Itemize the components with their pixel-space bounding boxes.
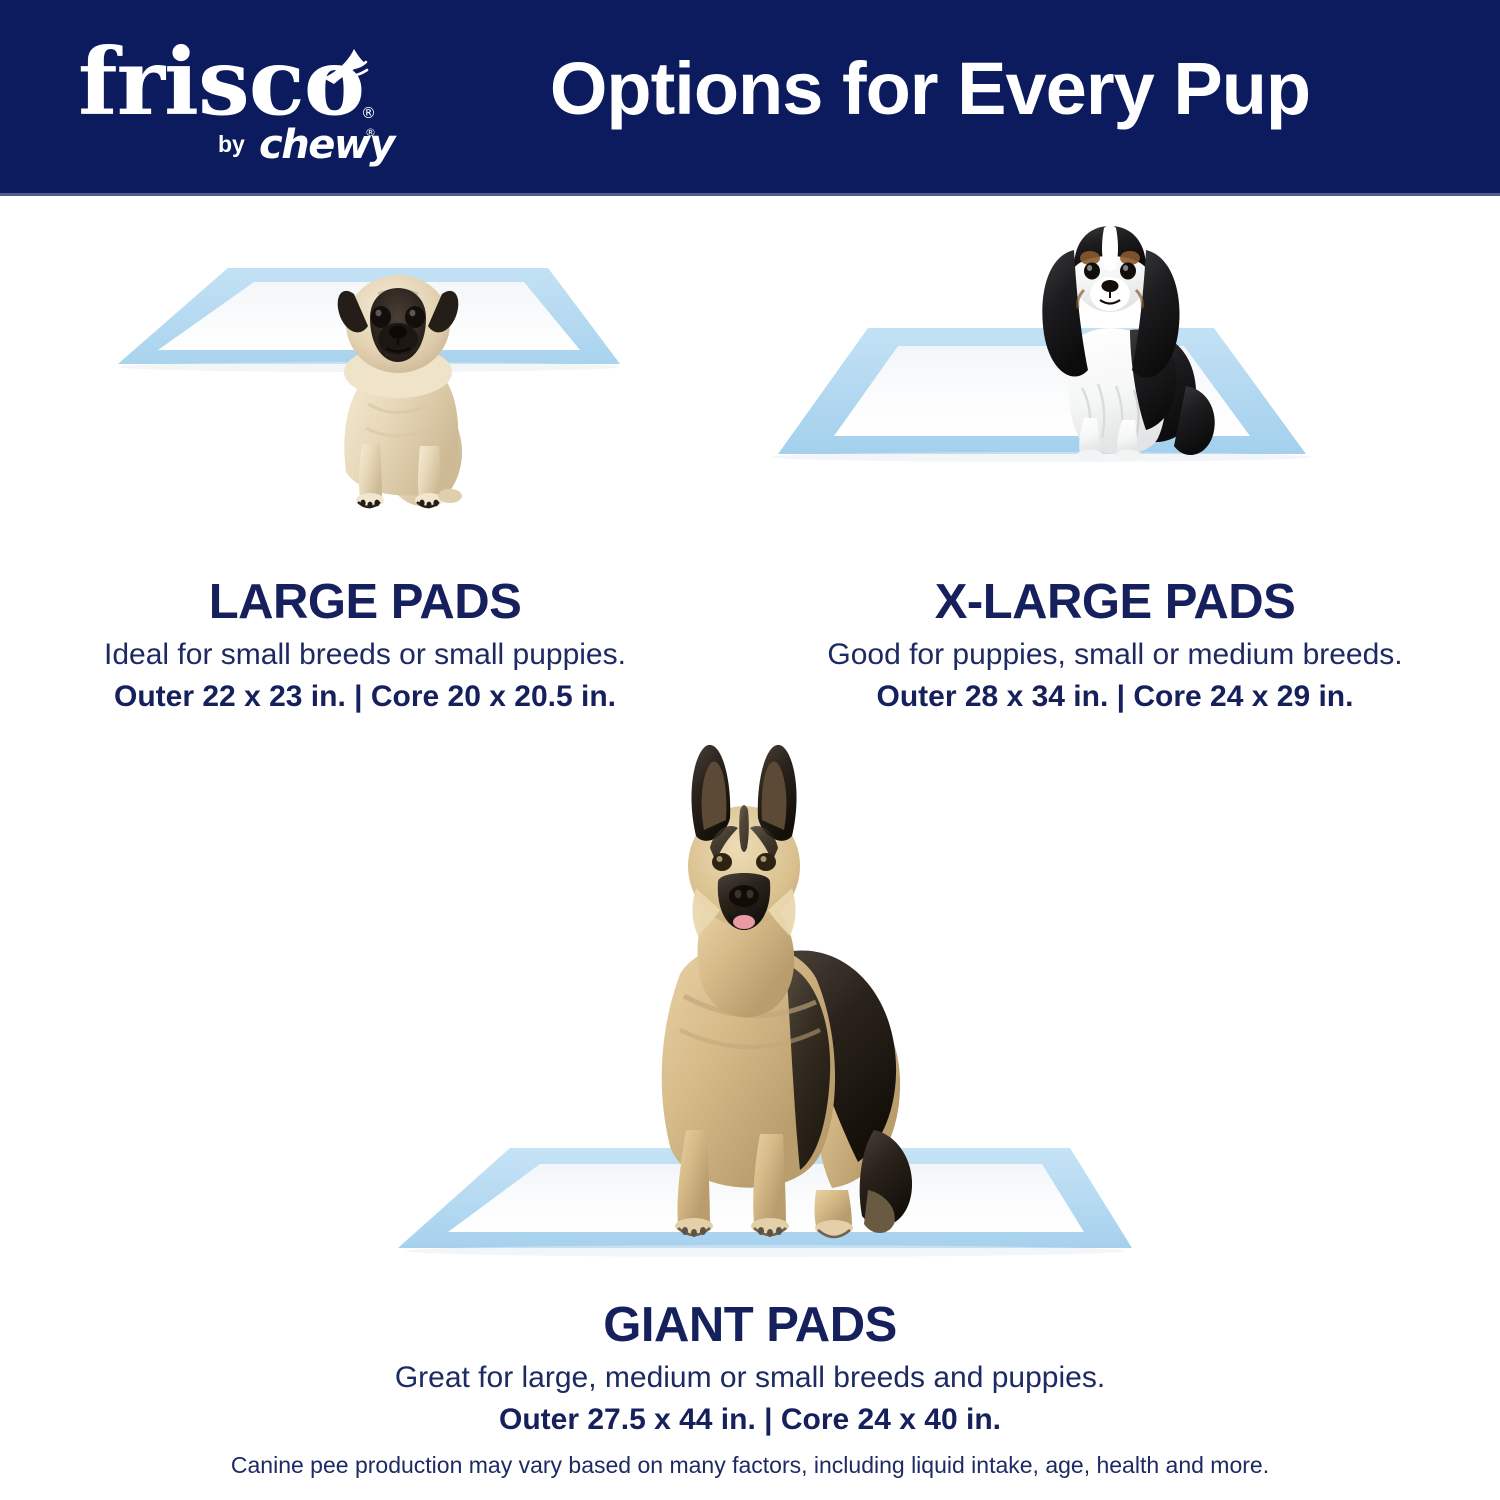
frisco-by-chewy-logo: frisco ® by chewy ® [78,34,378,164]
product-panel-x-large-pads: X-LARGE PADS Good for puppies, small or … [730,196,1500,716]
x-large-pads-caption: X-LARGE PADS Good for puppies, small or … [730,577,1500,715]
chewy-registered-trademark-icon: ® [365,126,376,139]
giant-pad-illustration [380,720,1140,1300]
giant-pads-subtitle: Great for large, medium or small breeds … [0,1359,1500,1397]
x-large-pads-dimensions: Outer 28 x 34 in. | Core 24 x 29 in. [730,678,1500,716]
x-large-pads-subtitle: Good for puppies, small or medium breeds… [730,636,1500,674]
infographic-page: frisco ® by chewy ® Options for Every Pu… [0,0,1500,1500]
large-pads-subtitle: Ideal for small breeds or small puppies. [0,636,730,674]
x-large-pads-title: X-LARGE PADS [730,577,1500,628]
pug-dog-photo [338,275,462,508]
product-panel-giant-pads: GIANT PADS Great for large, medium or sm… [0,720,1500,1450]
header-bar: frisco ® by chewy ® Options for Every Pu… [0,0,1500,196]
large-pads-caption: LARGE PADS Ideal for small breeds or sma… [0,577,730,715]
footer-disclaimer: Canine pee production may vary based on … [0,1452,1500,1479]
product-panel-large-pads: LARGE PADS Ideal for small breeds or sma… [0,196,730,716]
large-pad-illustration [110,246,630,596]
german-shepherd-dog-photo [662,745,912,1237]
giant-pads-dimensions: Outer 27.5 x 44 in. | Core 24 x 40 in. [0,1401,1500,1439]
page-title: Options for Every Pup [400,46,1460,131]
large-pads-title: LARGE PADS [0,577,730,628]
logo-by-label: by [218,131,245,158]
registered-trademark-icon: ® [361,104,376,122]
swoosh-tail-icon [321,44,367,86]
x-large-pad-illustration [750,206,1390,606]
giant-pads-caption: GIANT PADS Great for large, medium or sm… [0,1300,1500,1438]
large-pads-dimensions: Outer 22 x 23 in. | Core 20 x 20.5 in. [0,678,730,716]
giant-pads-title: GIANT PADS [0,1300,1500,1351]
